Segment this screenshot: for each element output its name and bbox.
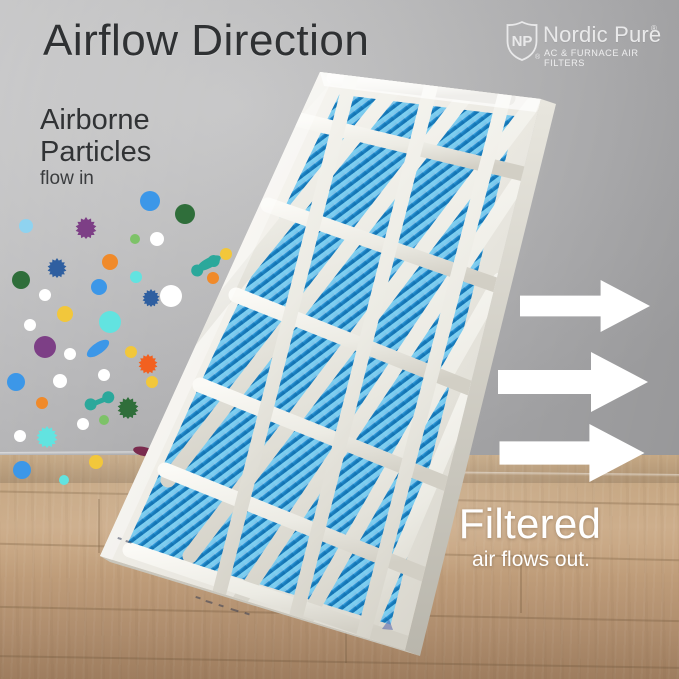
airflow-arrows	[0, 0, 679, 679]
logo-tagline: AC & FURNACE AIR FILTERS	[544, 48, 665, 68]
filtered-label: Filtered	[405, 500, 655, 548]
logo-registered-mark: ®	[651, 24, 657, 33]
airflow-direction-infographic: Airflow Direction Airborne Particles flo…	[0, 0, 679, 679]
shield-registered-mark: ®	[535, 54, 540, 61]
airflow-arrow-top-icon	[520, 278, 650, 334]
airflow-arrow-middle-icon	[498, 352, 648, 412]
nordic-pure-logo: NP ® Nordic Pure ® AC & FURNACE AIR FILT…	[505, 21, 665, 65]
air-flows-out-label: air flows out.	[411, 548, 651, 572]
logo-monogram: NP	[512, 33, 533, 50]
airflow-arrow-bottom-icon	[498, 424, 646, 482]
airborne-particles-label-line1: Airborne	[40, 104, 150, 136]
airborne-particles-label: Airborne Particles	[40, 104, 151, 168]
flow-in-label: flow in	[40, 168, 94, 190]
airborne-particles-label-line2: Particles	[40, 136, 151, 168]
shield-icon: NP	[505, 21, 539, 61]
logo-brand-name: Nordic Pure	[543, 22, 661, 48]
page-title: Airflow Direction	[43, 16, 369, 66]
